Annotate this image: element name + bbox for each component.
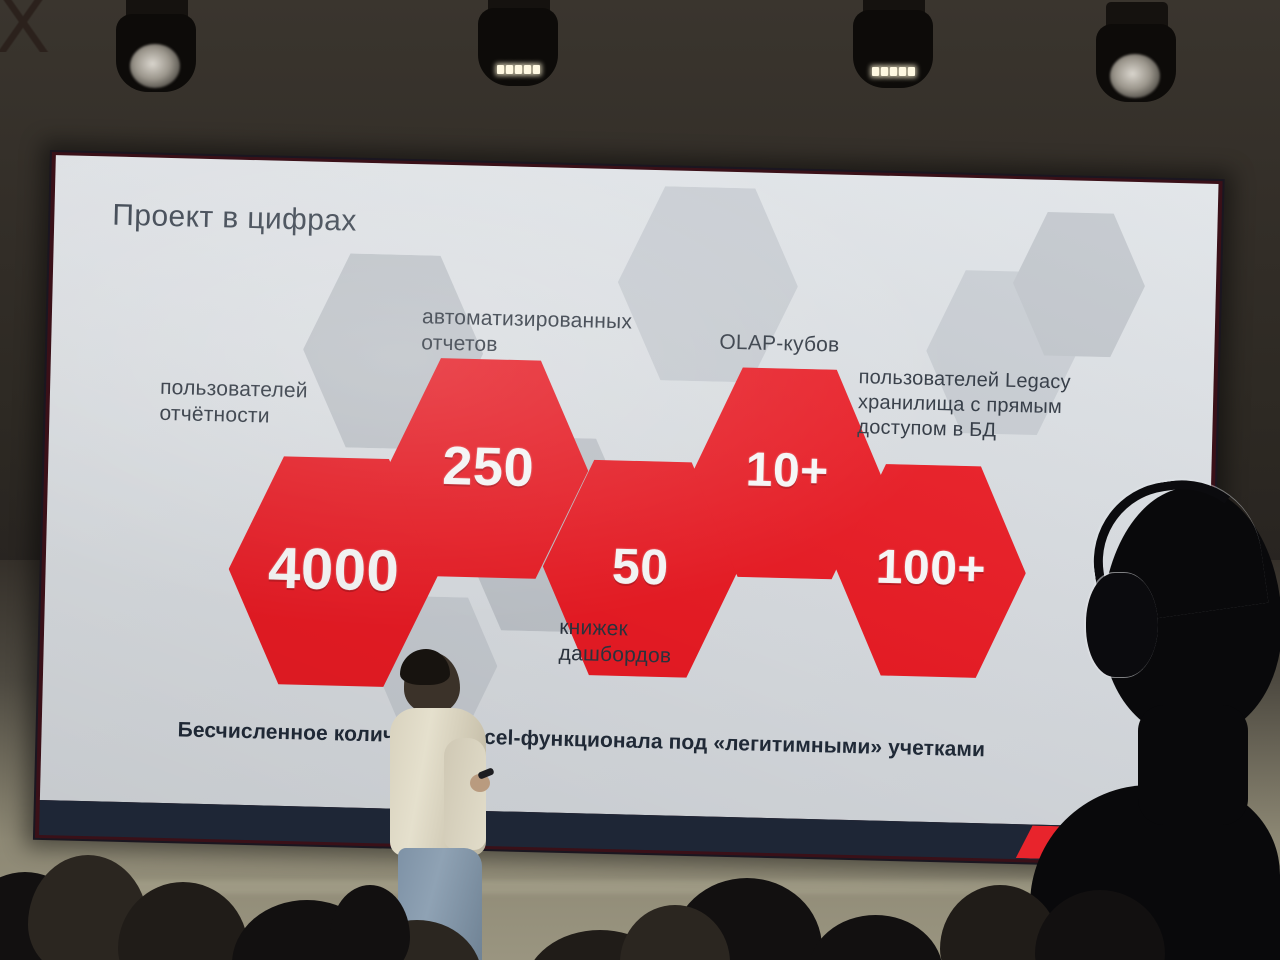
light-lens-icon [130, 44, 180, 88]
light-led-array-icon [865, 64, 921, 78]
lighting-truss [0, 0, 54, 52]
conference-photo-scene: Проект в цифрах 4000 250 50 [0, 0, 1280, 960]
light-lens-icon [1110, 54, 1160, 98]
metric-label-legacy-users: пользователей Legacy хранилища с прямым … [857, 365, 1071, 445]
presenter-arm [444, 738, 486, 850]
metric-label-users-reporting: пользователей отчётности [159, 375, 308, 431]
headphone-earcup-icon [1086, 573, 1158, 677]
metric-label-dashboard-books: книжек дашбордов [558, 615, 672, 670]
listener-neck [1138, 705, 1248, 825]
metric-value: 10+ [745, 446, 829, 496]
presenter-legs [398, 848, 482, 960]
light-led-array-icon [490, 62, 546, 76]
stage-light-4 [1088, 2, 1184, 122]
metric-value: 250 [442, 438, 535, 494]
metric-value: 50 [611, 541, 669, 592]
stage-light-1 [108, 0, 204, 112]
metric-value: 100+ [875, 544, 986, 595]
stage-light-2 [470, 0, 566, 106]
metric-label-olap-cubes: OLAP-кубов [719, 330, 840, 359]
metric-label-automated-reports: автоматизированных отчетов [421, 304, 632, 362]
metric-value: 4000 [267, 539, 399, 600]
foreground-listener [1030, 455, 1280, 960]
stage-light-3 [845, 0, 941, 108]
presenter [386, 652, 504, 960]
